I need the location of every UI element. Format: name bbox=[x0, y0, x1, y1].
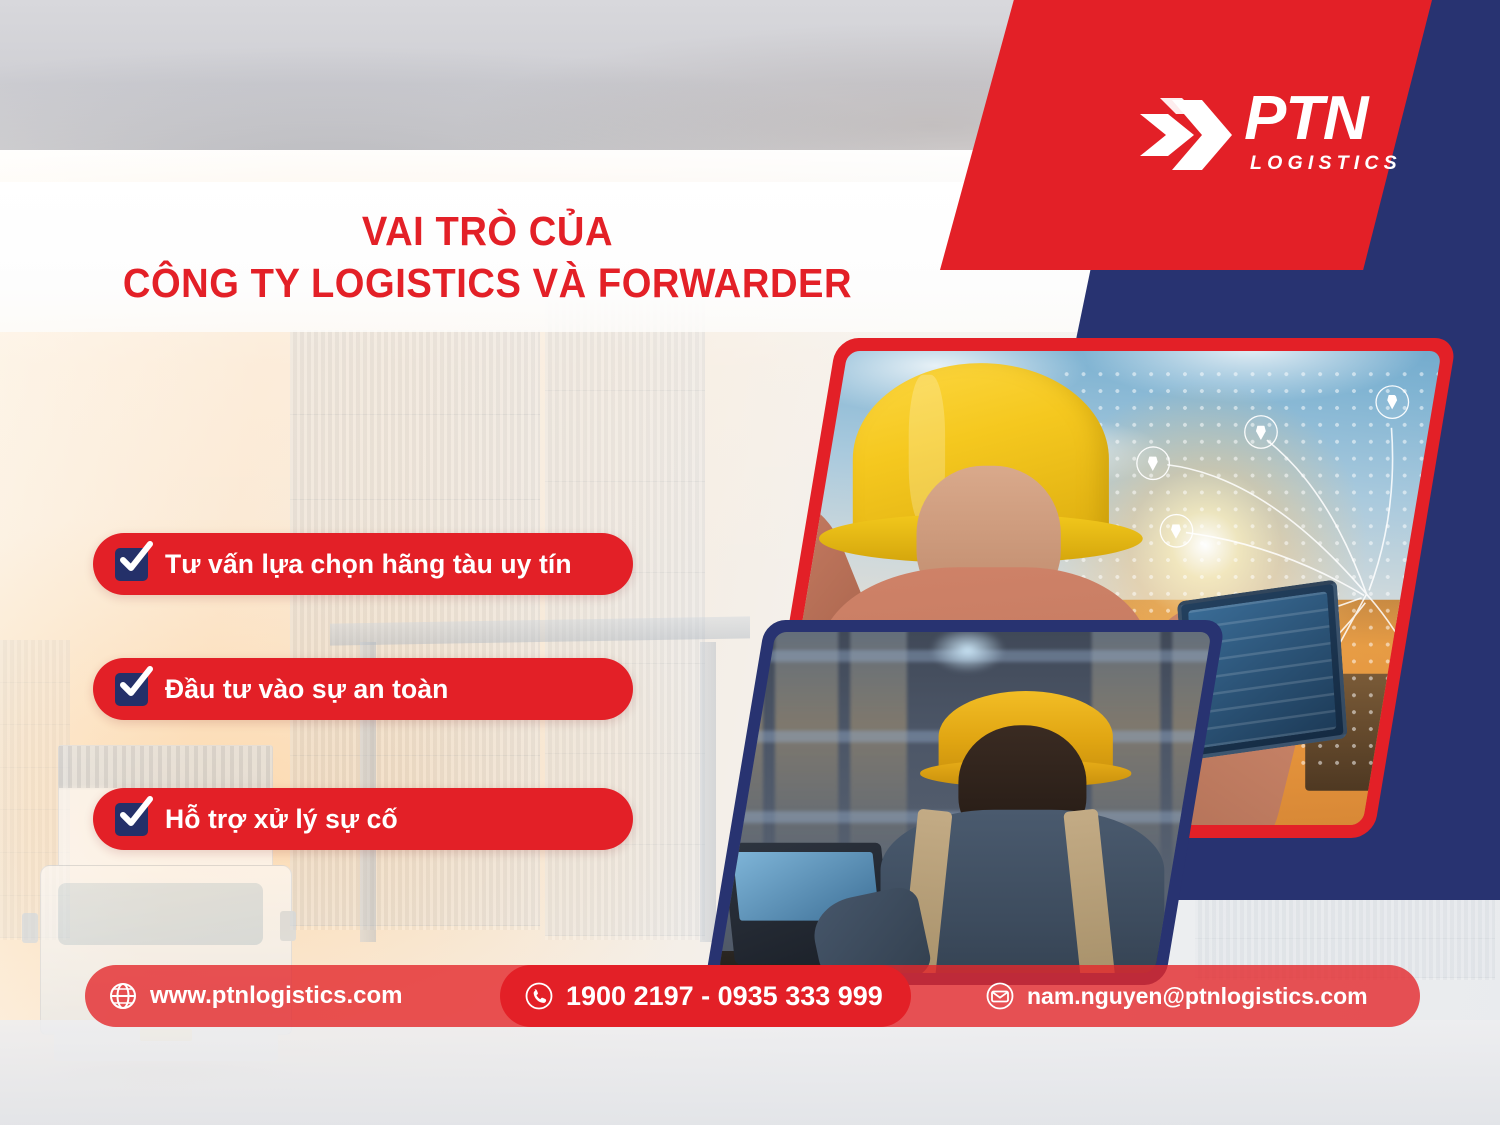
headline-line-2: CÔNG TY LOGISTICS VÀ FORWARDER bbox=[34, 262, 941, 305]
headline-line-1: VAI TRÒ CỦA bbox=[34, 210, 941, 253]
check-box-icon bbox=[115, 673, 148, 706]
phone-icon bbox=[524, 981, 554, 1011]
logo-name: PTN bbox=[1244, 88, 1438, 150]
secondary-photo-clip bbox=[718, 632, 1211, 973]
map-pin-icon bbox=[1244, 415, 1278, 449]
globe-icon bbox=[108, 981, 138, 1011]
page-title: VAI TRÒ CỦA CÔNG TY LOGISTICS VÀ FORWARD… bbox=[0, 210, 975, 305]
ground-plane bbox=[0, 1020, 1500, 1125]
website-text: www.ptnlogistics.com bbox=[150, 982, 402, 1010]
poster-canvas: PTN LOGISTICS VAI TRÒ CỦA CÔNG TY LOGIST… bbox=[0, 0, 1500, 1125]
logo-wordmark: PTN LOGISTICS bbox=[1246, 88, 1436, 188]
double-chevron-icon bbox=[1138, 94, 1238, 174]
website-contact[interactable]: www.ptnlogistics.com bbox=[108, 965, 402, 1027]
feature-pill-3[interactable]: Hỗ trợ xử lý sự cố bbox=[93, 788, 633, 850]
email-contact[interactable]: nam.nguyen@ptnlogistics.com bbox=[985, 965, 1368, 1027]
check-box-icon bbox=[115, 548, 148, 581]
check-box-icon bbox=[115, 803, 148, 836]
secondary-photo-image bbox=[718, 632, 1211, 973]
feature-pill-2[interactable]: Đầu tư vào sự an toàn bbox=[93, 658, 633, 720]
feature-label: Đầu tư vào sự an toàn bbox=[165, 674, 448, 705]
feature-label: Hỗ trợ xử lý sự cố bbox=[165, 804, 398, 835]
feature-pill-1[interactable]: Tư vấn lựa chọn hãng tàu uy tín bbox=[93, 533, 633, 595]
map-pin-icon bbox=[1375, 385, 1409, 419]
phone-contact[interactable]: 1900 2197 - 0935 333 999 bbox=[500, 965, 911, 1027]
email-text: nam.nguyen@ptnlogistics.com bbox=[1027, 983, 1368, 1010]
secondary-photo-card bbox=[735, 620, 1195, 985]
logo-subtitle: LOGISTICS bbox=[1246, 152, 1436, 175]
envelope-icon bbox=[985, 981, 1015, 1011]
warehouse-worker bbox=[861, 676, 1183, 973]
phone-text: 1900 2197 - 0935 333 999 bbox=[566, 981, 883, 1012]
crane-leg bbox=[700, 642, 716, 942]
brand-logo[interactable]: PTN LOGISTICS bbox=[1138, 88, 1428, 188]
feature-label: Tư vấn lựa chọn hãng tàu uy tín bbox=[165, 549, 572, 580]
